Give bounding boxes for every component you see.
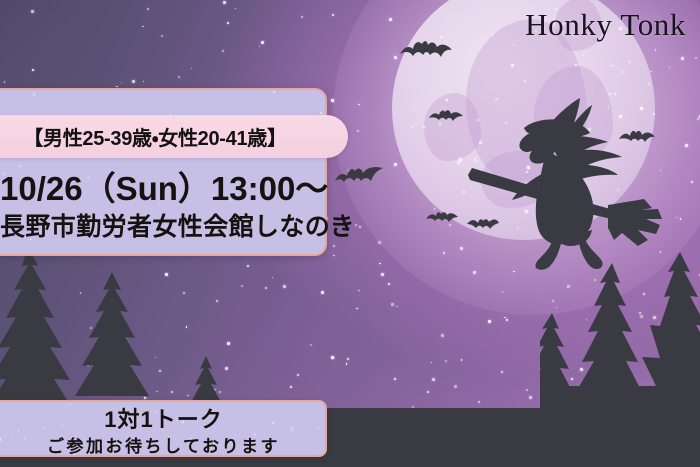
halloween-event-flyer: Honky Tonk 【男性25-39歳・女性20-41歳】 10/26（Sun… [0, 0, 700, 467]
witch-on-broom-silhouette [466, 88, 700, 274]
cta-subtitle: ご参加お待ちしております [0, 432, 327, 457]
bat-icon [428, 108, 464, 128]
bat-icon [398, 38, 454, 68]
cta-title: 1対1トーク [0, 402, 327, 434]
age-range-banner: 【男性25-39歳・女性20-41歳】 [0, 115, 348, 158]
bat-icon [425, 210, 459, 229]
event-date-time: 10/26（Sun）13:00〜 [0, 162, 327, 210]
event-venue: 長野市勤労者女性会館しなのき [0, 207, 327, 243]
bat-icon [333, 163, 385, 191]
age-range-text: 【男性25-39歳・女性20-41歳】 [23, 122, 286, 151]
brand-logo: Honky Tonk [525, 7, 686, 43]
